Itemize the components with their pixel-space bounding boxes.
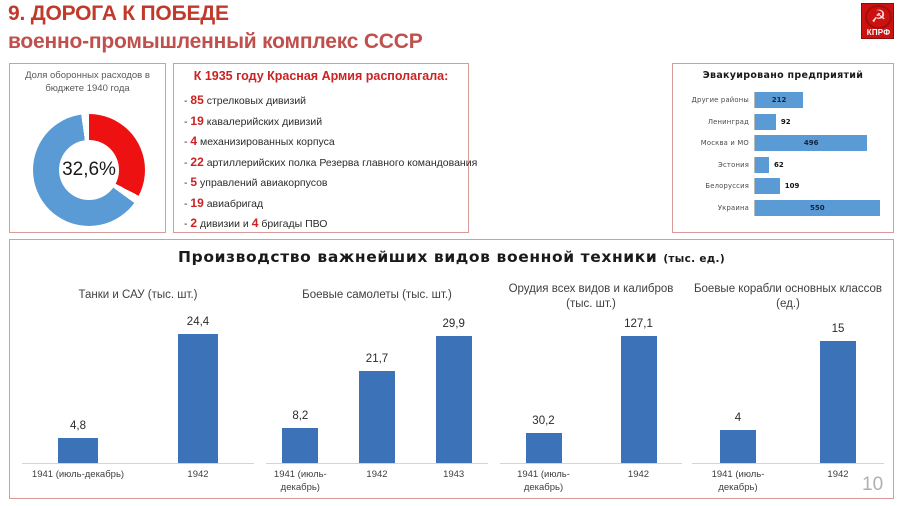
production-bar bbox=[282, 428, 318, 463]
production-bar bbox=[526, 433, 562, 463]
logo-label: КПРФ bbox=[862, 28, 894, 37]
evacuation-row-label: Москва и МО bbox=[677, 139, 754, 147]
evacuation-bar-chart: Другие районы212Ленинград92Москва и МО49… bbox=[677, 90, 891, 219]
production-bar bbox=[359, 371, 395, 463]
production-bar bbox=[58, 438, 98, 463]
red-army-list-item: - 19 авиабригад bbox=[184, 194, 466, 215]
production-bar-value: 8,2 bbox=[260, 410, 340, 422]
evacuation-row: Белоруссия109 bbox=[677, 176, 891, 196]
production-group-title: Танки и САУ (тыс. шт.) bbox=[18, 288, 258, 303]
production-axis-line bbox=[500, 463, 682, 464]
production-group-title: Боевые корабли основных классов (ед.) bbox=[688, 282, 888, 312]
page-title-line2: военно-промышленный комплекс СССР bbox=[8, 30, 423, 54]
page-title-line1: 9. ДОРОГА К ПОБЕДЕ bbox=[8, 2, 229, 26]
evacuation-row: Москва и МО496 bbox=[677, 133, 891, 153]
list-item-text: артиллерийских полка Резерва главного ко… bbox=[207, 157, 478, 169]
evacuation-row-label: Ленинград bbox=[677, 118, 754, 126]
evacuation-bar-track: 62 bbox=[754, 157, 891, 173]
production-group: Боевые самолеты (тыс. шт.)8,21941 (июль-… bbox=[262, 280, 492, 495]
list-item-number: 22 bbox=[190, 155, 203, 169]
production-bar bbox=[178, 334, 218, 463]
list-item-text: кавалерийских дивизий bbox=[207, 116, 322, 128]
evacuation-bar bbox=[755, 114, 776, 130]
evacuation-bar-track: 212 bbox=[754, 92, 891, 108]
production-bar bbox=[820, 341, 856, 463]
production-bar-value: 24,4 bbox=[158, 316, 238, 328]
production-category-label: 1942 bbox=[591, 468, 686, 481]
production-bar-value: 127,1 bbox=[599, 318, 679, 330]
production-card: Производство важнейших видов военной тех… bbox=[9, 239, 894, 499]
production-bar bbox=[621, 336, 657, 463]
production-category-label: 1943 bbox=[415, 468, 492, 481]
production-chart-groups: Танки и САУ (тыс. шт.)4,81941 (июль-дека… bbox=[10, 280, 895, 495]
red-army-list-item: - 4 механизированных корпуса bbox=[184, 132, 466, 153]
production-bar-value: 30,2 bbox=[504, 415, 584, 427]
evacuation-row: Эстония62 bbox=[677, 155, 891, 175]
evacuation-row: Украина550 bbox=[677, 198, 891, 218]
production-axis-line bbox=[22, 463, 254, 464]
evacuation-bar-value: 62 bbox=[774, 157, 784, 173]
red-army-card: К 1935 году Красная Армия располагала: -… bbox=[173, 63, 469, 233]
evacuation-bar bbox=[755, 157, 769, 173]
evacuation-bar-track: 496 bbox=[754, 135, 891, 151]
defense-share-card: Доля оборонных расходов в бюджете 1940 г… bbox=[9, 63, 166, 233]
production-bar bbox=[436, 336, 472, 463]
production-category-label: 1941 (июль- декабрь) bbox=[688, 468, 788, 494]
evacuation-bar-track: 109 bbox=[754, 178, 891, 194]
production-group: Орудия всех видов и калибров (тыс. шт.)3… bbox=[496, 280, 686, 495]
list-item-text: дивизии и bbox=[200, 218, 249, 230]
production-category-label: 1941 (июль- декабрь) bbox=[262, 468, 339, 494]
production-title-text: Производство важнейших видов военной тех… bbox=[178, 248, 657, 266]
list-item-text: управлений авиакорпусов bbox=[200, 177, 327, 189]
slide-canvas: 9. ДОРОГА К ПОБЕДЕ военно-промышленный к… bbox=[0, 0, 900, 506]
red-army-list: - 85 стрелковых дивизий- 19 кавалерийски… bbox=[184, 91, 466, 235]
list-item-number: 19 bbox=[190, 196, 203, 210]
page-number: 10 bbox=[862, 474, 883, 496]
evacuation-bar-value: 92 bbox=[781, 114, 791, 130]
production-category-label: 1942 bbox=[339, 468, 416, 481]
hammer-and-sickle-icon: ☭ bbox=[862, 5, 894, 28]
production-group: Танки и САУ (тыс. шт.)4,81941 (июль-дека… bbox=[18, 280, 258, 495]
donut-chart: 32,6% bbox=[33, 114, 145, 226]
donut-center-value: 32,6% bbox=[33, 114, 145, 226]
red-army-list-item: - 19 кавалерийских дивизий bbox=[184, 112, 466, 133]
evacuation-bar-value: 496 bbox=[755, 135, 867, 151]
evacuation-row: Другие районы212 bbox=[677, 90, 891, 110]
production-bar bbox=[720, 430, 756, 463]
red-army-list-item: - 22 артиллерийских полка Резерва главно… bbox=[184, 153, 466, 174]
red-army-list-item: - 2 дивизии и 4 бригады ПВО bbox=[184, 214, 466, 235]
evacuation-bar-value: 109 bbox=[785, 178, 800, 194]
list-item-number: 2 bbox=[190, 216, 197, 230]
list-item-text-2: бригады ПВО bbox=[261, 218, 327, 230]
list-item-number: 4 bbox=[190, 134, 197, 148]
evacuation-row-label: Украина bbox=[677, 204, 754, 212]
evacuation-row: Ленинград92 bbox=[677, 112, 891, 132]
list-item-number: 19 bbox=[190, 114, 203, 128]
evacuation-row-label: Другие районы bbox=[677, 96, 754, 104]
production-bar-value: 29,9 bbox=[414, 318, 494, 330]
list-item-number: 5 bbox=[190, 175, 197, 189]
red-army-list-item: - 5 управлений авиакорпусов bbox=[184, 173, 466, 194]
donut-chart-title: Доля оборонных расходов в бюджете 1940 г… bbox=[10, 69, 165, 95]
kprf-logo: ☭ КПРФ bbox=[861, 3, 894, 39]
production-title-unit: (тыс. ед.) bbox=[663, 253, 725, 265]
list-item-text: механизированных корпуса bbox=[200, 136, 335, 148]
production-axis-line bbox=[692, 463, 884, 464]
evacuation-card: Эвакуировано предприятий Другие районы21… bbox=[672, 63, 894, 233]
evacuation-bar-track: 550 bbox=[754, 200, 891, 216]
list-item-number: 85 bbox=[190, 93, 203, 107]
list-item-number-2: 4 bbox=[252, 216, 259, 230]
list-item-text: стрелковых дивизий bbox=[207, 95, 306, 107]
production-category-label: 1942 bbox=[138, 468, 258, 481]
production-chart-title: Производство важнейших видов военной тех… bbox=[10, 248, 893, 266]
production-bar-value: 4 bbox=[698, 412, 778, 424]
evacuation-bar-value: 212 bbox=[755, 92, 803, 108]
red-army-list-item: - 85 стрелковых дивизий bbox=[184, 91, 466, 112]
production-axis-line bbox=[266, 463, 488, 464]
red-army-heading: К 1935 году Красная Армия располагала: bbox=[174, 69, 468, 83]
production-bar-value: 4,8 bbox=[38, 420, 118, 432]
production-group-title: Боевые самолеты (тыс. шт.) bbox=[262, 288, 492, 303]
production-group-title: Орудия всех видов и калибров (тыс. шт.) bbox=[496, 282, 686, 312]
production-category-label: 1941 (июль- декабрь) bbox=[496, 468, 591, 494]
evacuation-row-label: Эстония bbox=[677, 161, 754, 169]
evacuation-bar-track: 92 bbox=[754, 114, 891, 130]
evacuation-row-label: Белоруссия bbox=[677, 182, 754, 190]
list-item-text: авиабригад bbox=[207, 198, 263, 210]
production-bar-value: 21,7 bbox=[337, 353, 417, 365]
evacuation-bar-value: 550 bbox=[755, 200, 880, 216]
production-bar-value: 15 bbox=[798, 323, 878, 335]
production-category-label: 1941 (июль-декабрь) bbox=[18, 468, 138, 481]
evacuation-chart-title: Эвакуировано предприятий bbox=[673, 70, 893, 81]
production-group: Боевые корабли основных классов (ед.)419… bbox=[688, 280, 888, 495]
evacuation-bar bbox=[755, 178, 780, 194]
